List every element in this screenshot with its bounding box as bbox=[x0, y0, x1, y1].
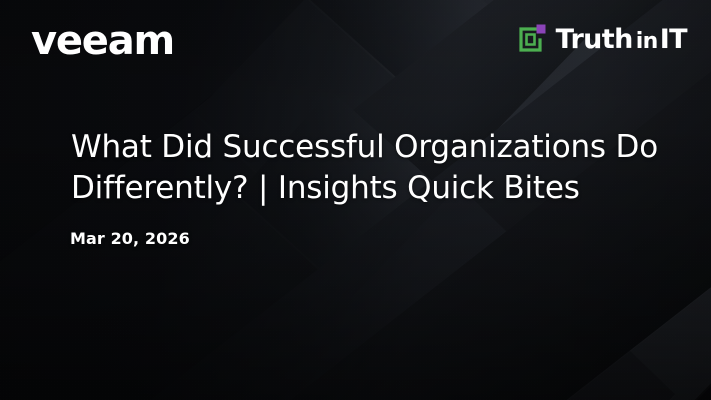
wordmark-truth: Truth bbox=[556, 26, 633, 53]
truth-in-it-logo: Truth in IT bbox=[514, 23, 687, 56]
wordmark-it: IT bbox=[659, 26, 687, 53]
veeam-logo: veeam bbox=[31, 21, 174, 61]
title-line-2: Differently? | Insights Quick Bites bbox=[71, 168, 651, 209]
truth-in-it-bracket-icon bbox=[514, 23, 547, 56]
presentation-title-slide: veeam Truth in IT What Did Successful Or… bbox=[0, 0, 711, 400]
slide-date: Mar 20, 2026 bbox=[70, 231, 190, 247]
truth-in-it-wordmark: Truth in IT bbox=[556, 26, 687, 53]
slide-title: What Did Successful Organizations Do Dif… bbox=[71, 127, 651, 209]
wordmark-in: in bbox=[633, 31, 659, 53]
slide-content: veeam Truth in IT What Did Successful Or… bbox=[0, 0, 711, 400]
title-line-1: What Did Successful Organizations Do bbox=[71, 127, 651, 168]
